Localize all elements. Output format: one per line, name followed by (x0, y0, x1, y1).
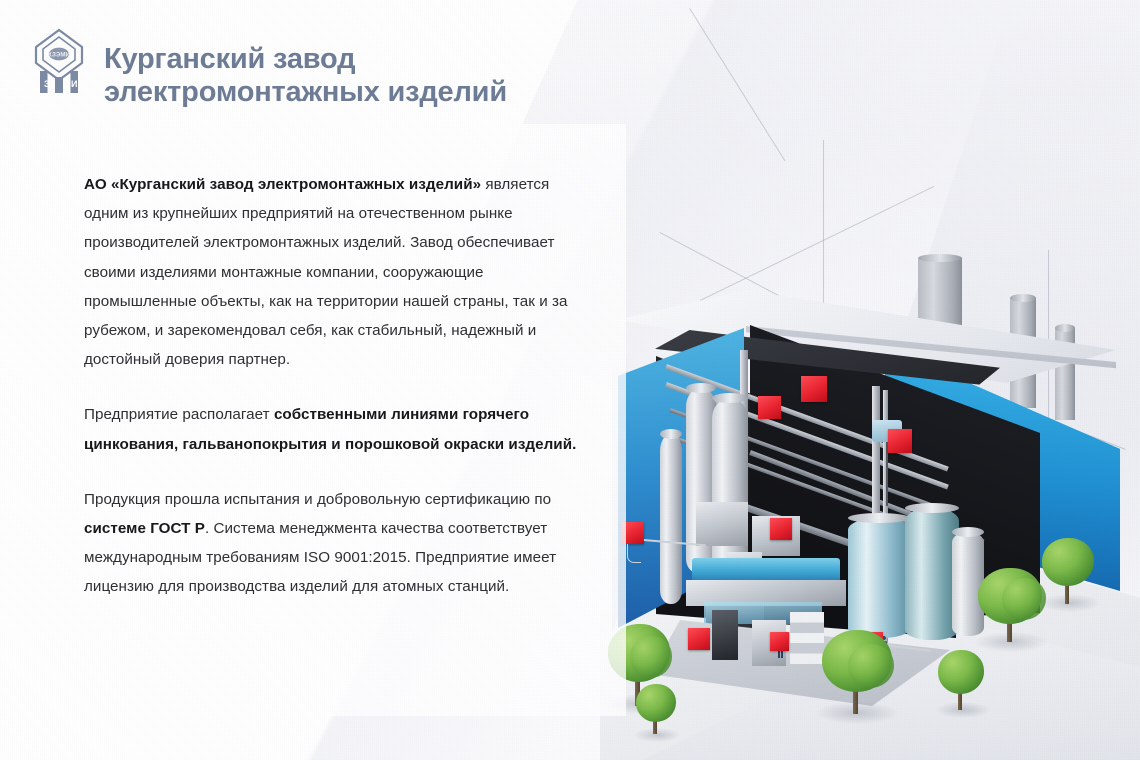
process-tank-2 (905, 508, 959, 640)
paragraph-2: Предприятие располагает собственными лин… (84, 400, 596, 458)
paragraph-2-start: Предприятие располагает (84, 406, 274, 423)
galvanizing-bath (692, 558, 840, 582)
factory-illustration (600, 150, 1140, 760)
page-header: КЗЭМИ З И Курганский завод электромонтаж… (0, 0, 700, 118)
equipment-marker-3 (888, 429, 912, 453)
page-title: Курганский завод электромонтажных издели… (104, 43, 684, 109)
content-card-body: АО «Курганский завод электромонтажных из… (84, 170, 596, 602)
marker-hook-1 (627, 544, 641, 563)
paragraph-1-rest: является одним из крупнейших предприятий… (84, 176, 568, 368)
svg-text:И: И (71, 79, 77, 89)
paragraph-1-lead: АО «Курганский завод электромонтажных из… (84, 176, 481, 193)
paragraph-3-bold: системе ГОСТ Р (84, 520, 205, 537)
title-line-2: электромонтажных изделий (104, 76, 684, 109)
paragraph-3-part1: Продукция прошла испытания и добровольну… (84, 491, 551, 508)
svg-text:З: З (44, 79, 50, 89)
svg-text:КЗЭМИ: КЗЭМИ (48, 52, 70, 59)
company-logo-icon: КЗЭМИ З И (29, 27, 89, 97)
title-line-1: Курганский завод (104, 43, 684, 76)
equipment-marker-7 (770, 632, 789, 651)
paragraph-3: Продукция прошла испытания и добровольну… (84, 485, 596, 602)
interior-cabinet-1 (712, 610, 738, 660)
equipment-marker-1 (801, 376, 827, 402)
content-card: АО «Курганский завод электромонтажных из… (38, 124, 626, 716)
equipment-marker-4 (770, 518, 792, 540)
interior-shelf (790, 612, 824, 664)
paragraph-1: АО «Курганский завод электромонтажных из… (84, 170, 596, 374)
slide-root: КЗЭМИ З И Курганский завод электромонтаж… (0, 0, 1140, 760)
equipment-marker-6 (688, 628, 710, 650)
equipment-marker-2 (758, 396, 781, 419)
equipment-box-1 (696, 502, 748, 546)
vertical-tank-3 (660, 434, 682, 604)
process-tank-3 (952, 532, 984, 636)
process-tank-1 (848, 518, 910, 638)
